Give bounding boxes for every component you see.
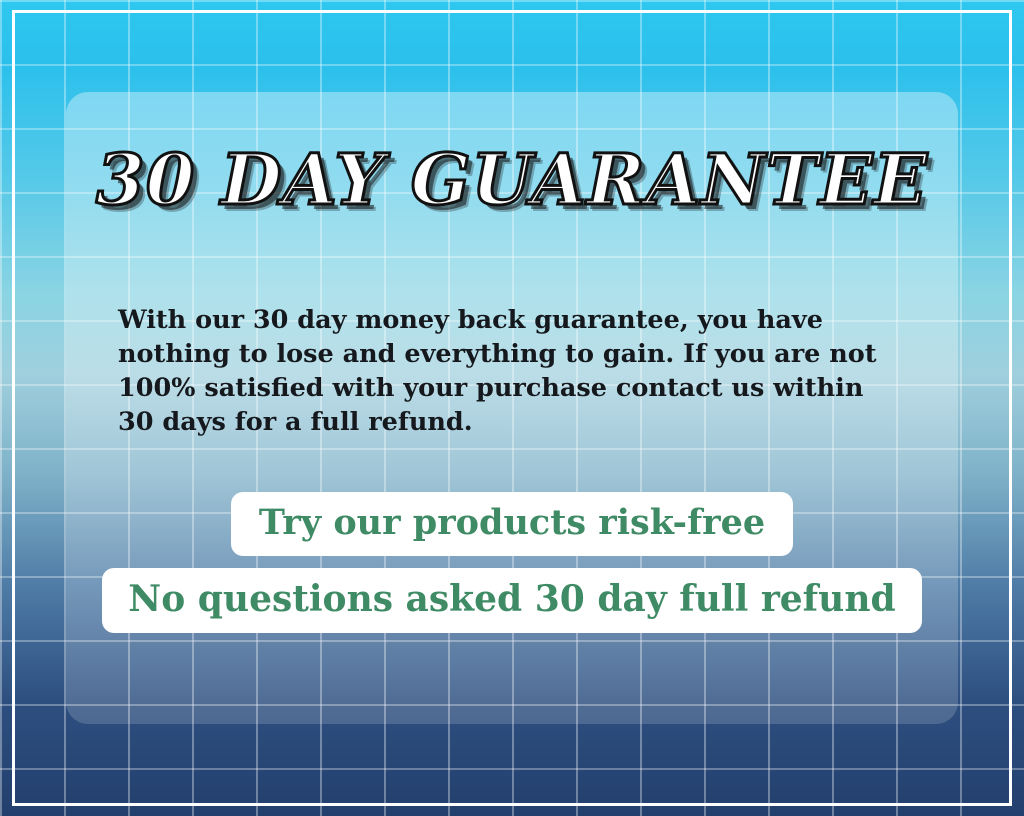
body-paragraph: With our 30 day money back guarantee, yo… (118, 304, 906, 440)
badge-row-1: Try our products risk-free (66, 492, 958, 568)
badge-risk-free: Try our products risk-free (231, 492, 793, 556)
content-card: 30 DAY GUARANTEE With our 30 day money b… (66, 92, 958, 724)
badge-group: Try our products risk-free No questions … (66, 492, 958, 633)
badge-row-2: No questions asked 30 day full refund (66, 568, 958, 633)
badge-no-questions: No questions asked 30 day full refund (102, 568, 921, 633)
headline: 30 DAY GUARANTEE (66, 138, 958, 221)
guarantee-poster: 30 DAY GUARANTEE With our 30 day money b… (0, 0, 1024, 816)
